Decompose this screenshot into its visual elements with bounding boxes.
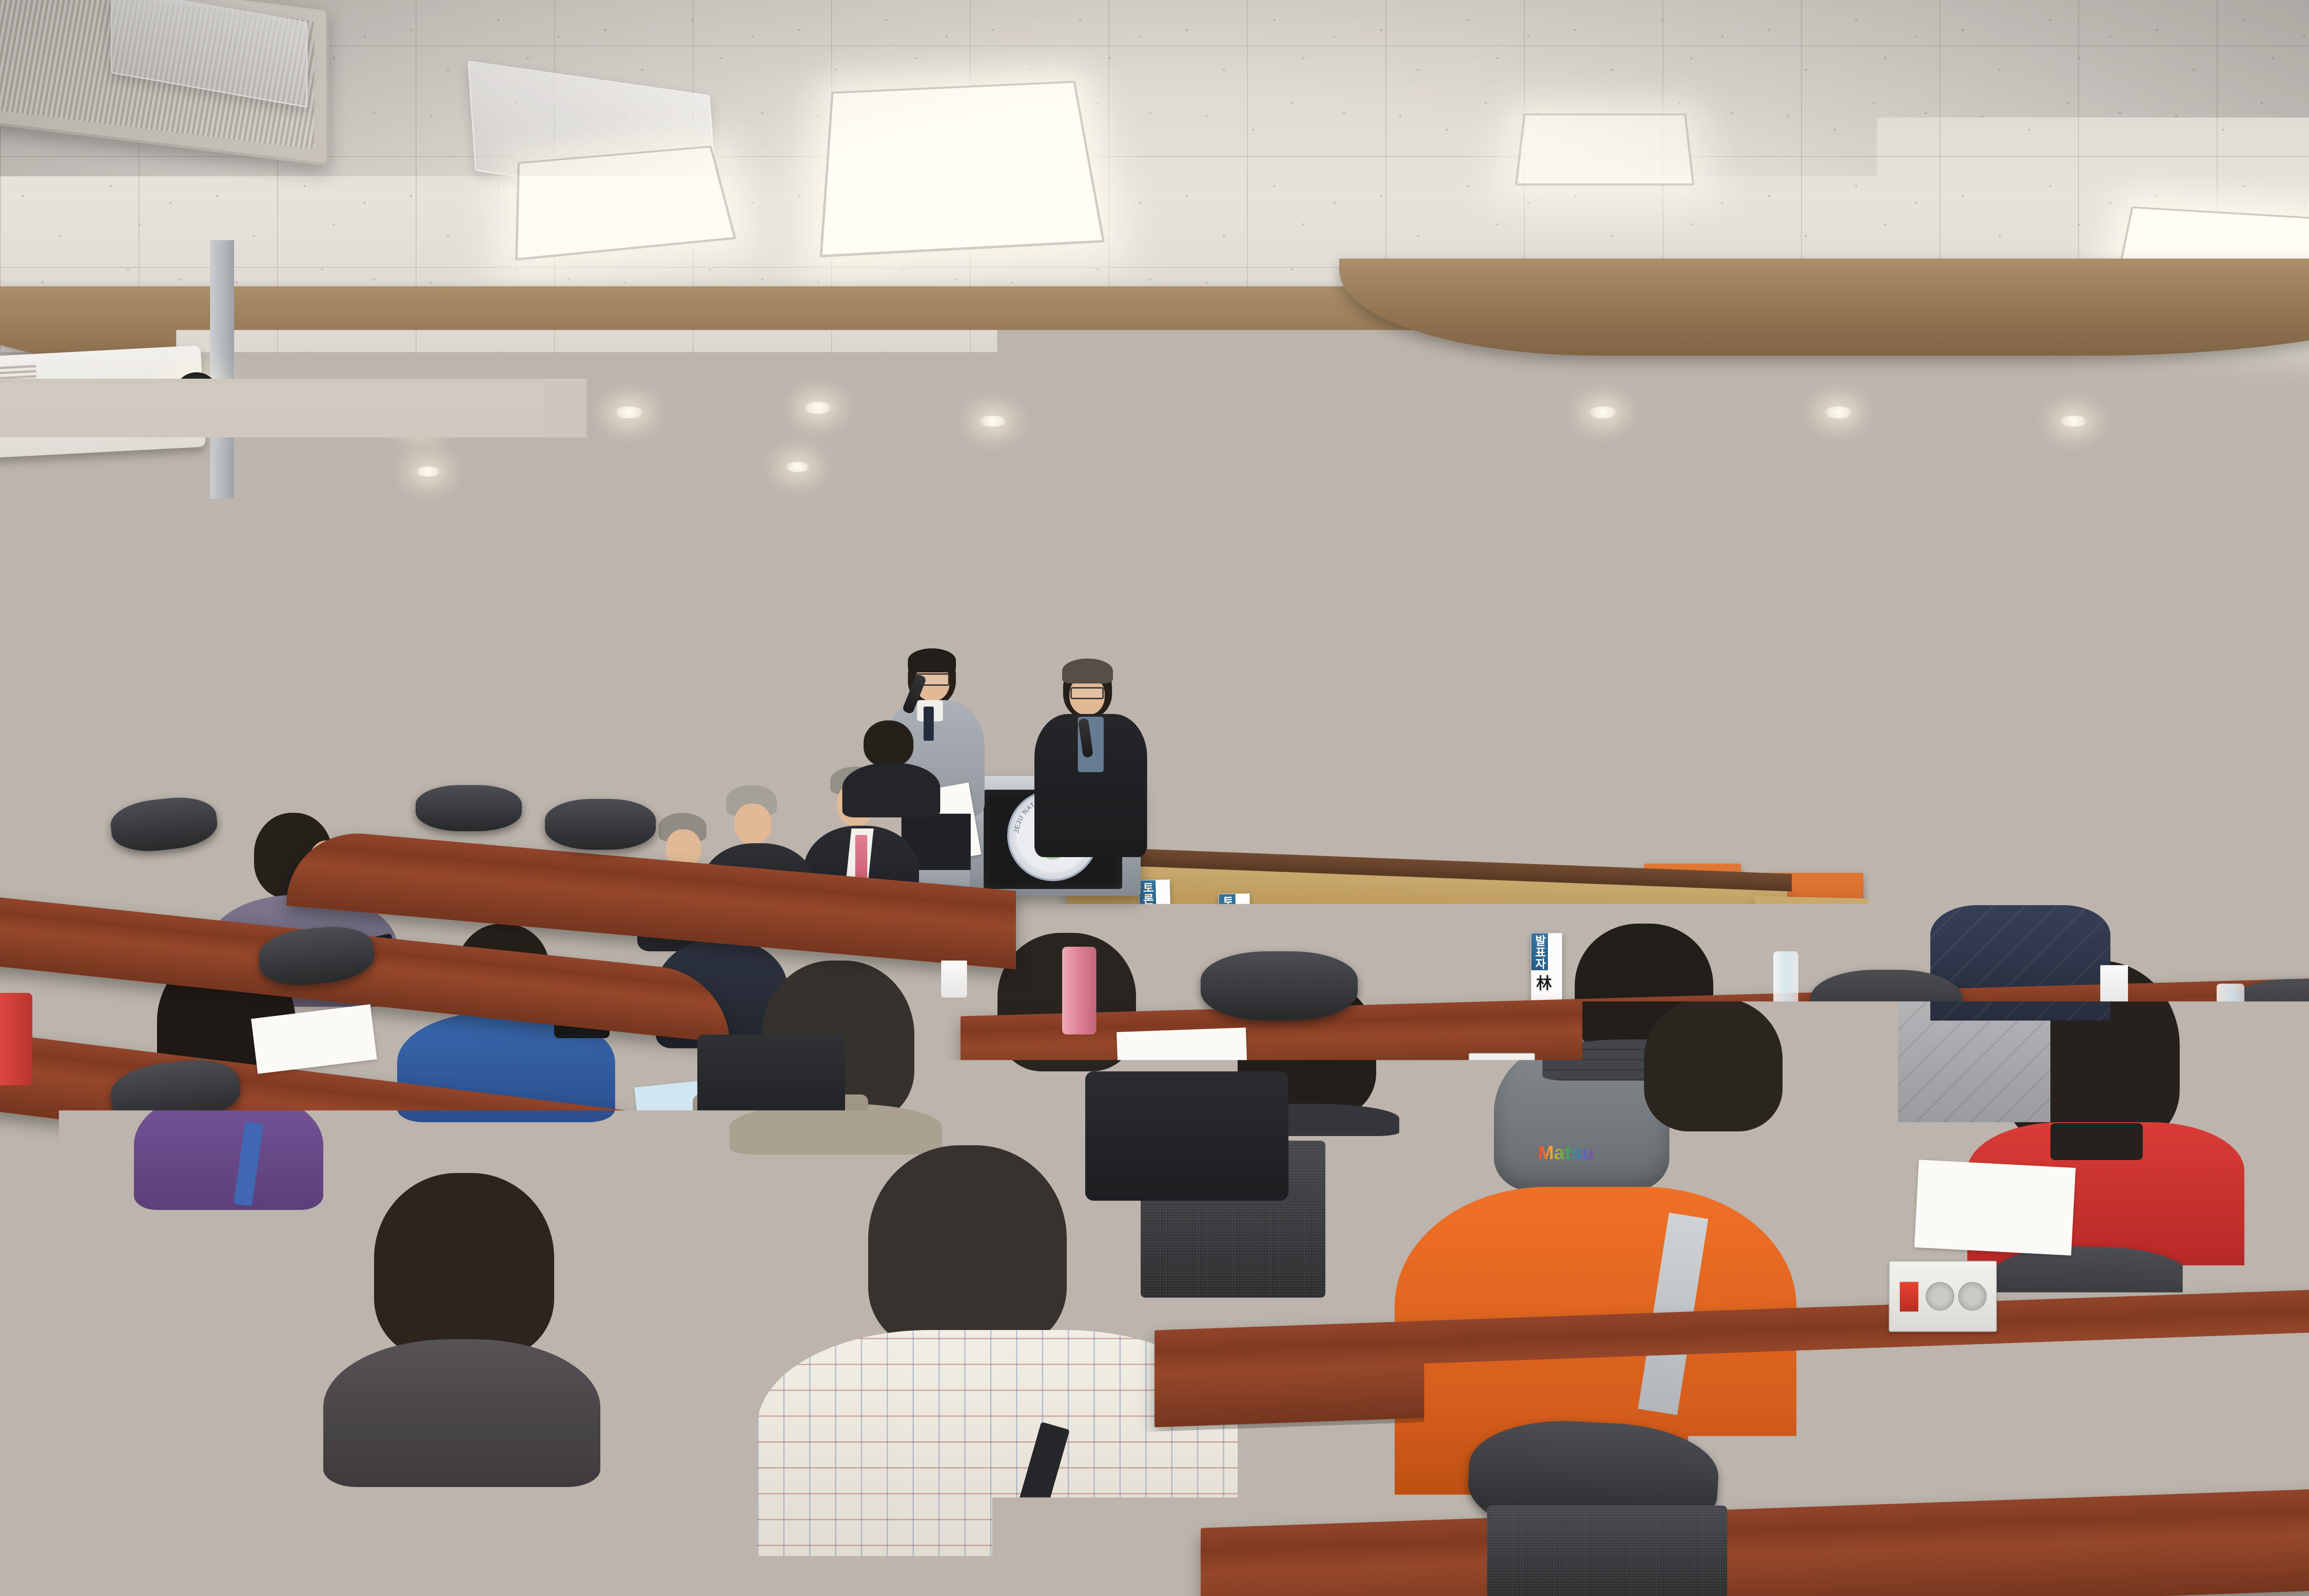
desk-power-outlet[interactable] [1469,1053,1535,1096]
shoulder-bag[interactable] [697,1034,845,1127]
hiker-figure [1909,804,1919,829]
presentation-slide: National Park of Taiwan Prof. Jiun-Chuan… [1609,504,2218,915]
standing-person-presenter-black-coat [1034,660,1150,873]
placard-name: 김 [1418,963,1441,979]
placard-role: 토론자 [1219,894,1236,931]
placard-role: 좌장 [1418,922,1435,959]
slide-title: National Park of Taiwan [1640,573,2185,624]
power-socket[interactable] [1926,1282,1954,1311]
event-banner: 제주-대만 국 일시 2018년 3월 23일(금) 16:00~18:3 [1275,490,1561,642]
hiker-figure [1995,806,2005,833]
water-bottle[interactable] [2217,984,2244,1067]
audience-woman-white-blouse [9,707,148,877]
chair-headrest[interactable] [545,799,656,850]
thermos-tumbler[interactable] [388,942,424,1034]
chair-headrest[interactable] [1201,951,1358,1021]
placard-role: 발표자 [1319,908,1336,945]
banner-date-label: 일시 [1287,611,1319,631]
placard-role: 토론자 [1139,880,1156,918]
printed-handout [2039,1358,2283,1482]
ceiling-panel-light [820,81,1105,257]
shoulder-bag[interactable] [1085,1071,1288,1201]
blue-booklet [0,1222,119,1336]
thermos-tumbler[interactable] [1062,947,1096,1034]
projection-screen: National Park of Taiwan Prof. Jiun-Chuan… [1602,496,2258,924]
slide-author-name: Prof. Jiun-Chuan Lin [1664,827,1873,852]
outlet-switch[interactable] [1899,1281,1919,1312]
hiker-figure [1952,809,1962,834]
hiker-figure [2038,803,2049,832]
printed-handout [1447,1149,1605,1243]
printed-handout [1800,1039,1940,1104]
scarf [60,789,104,849]
banner-title: 제주-대만 국 [1288,532,1467,581]
paper-cup[interactable] [941,961,967,997]
desk-power-outlet[interactable] [1953,1404,2052,1470]
conference-room-photo: National Park of Taiwan Prof. Jiun-Chuan… [0,0,2309,1596]
chair-headrest[interactable] [416,785,522,831]
desk-power-outlet[interactable] [1889,1261,1997,1332]
printed-handout [1914,1160,2075,1256]
power-socket[interactable] [1968,1423,1995,1450]
hiker-figure [2085,795,2095,827]
seated-person-back-row [840,720,942,817]
desk-power-outlet[interactable] [2152,1099,2228,1147]
water-bottle[interactable] [1773,951,1798,1025]
power-socket[interactable] [2006,1423,2033,1450]
hiker-figure [2149,799,2159,831]
ceiling-soffit-arc [1339,259,2309,356]
ceiling-panel-light [1515,114,1694,186]
banner-date-text: 2018년 3월 23일(금) 16:00~18:3 [1324,611,1561,631]
thermos-tumbler[interactable] [0,993,32,1085]
banner-date: 일시 2018년 3월 23일(금) 16:00~18:3 [1287,606,1561,632]
chair-headrest[interactable] [462,720,550,762]
chair-back[interactable] [1487,1505,1727,1596]
hiker-figure [1868,799,1878,826]
paper-cup[interactable] [2100,965,2128,1004]
power-socket[interactable] [1958,1282,1987,1311]
necktie [855,835,867,883]
